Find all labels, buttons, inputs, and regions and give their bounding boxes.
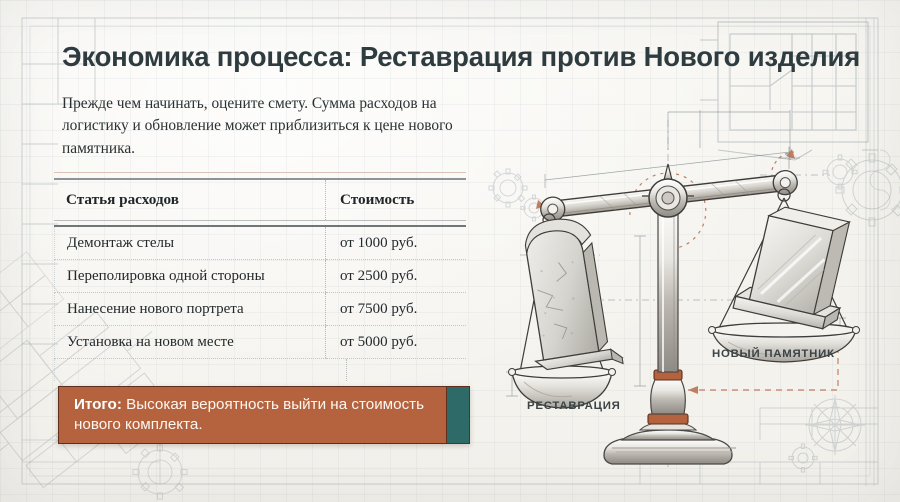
table-row: Установка на новом месте от 5000 руб. — [55, 326, 467, 359]
table-header-rule — [54, 220, 466, 227]
col-header-item: Статья расходов — [54, 180, 326, 220]
table-bottom-spacer — [54, 359, 466, 381]
summary-callout-body: Высокая вероятность выйти на стоимость н… — [74, 396, 424, 433]
summary-callout-label: Итого: — [74, 396, 122, 413]
cell-cost: от 2500 руб. — [326, 260, 467, 293]
cell-item: Нанесение нового портрета — [55, 293, 326, 326]
label-restoration: РЕСТАВРАЦИЯ — [527, 400, 621, 412]
cell-cost: от 1000 руб. — [326, 227, 467, 260]
cell-cost: от 7500 руб. — [326, 293, 467, 326]
label-new-monument: НОВЫЙ ПАМЯТНИК — [712, 348, 835, 360]
table-top-rule — [54, 172, 466, 180]
cell-cost: от 5000 руб. — [326, 326, 467, 359]
table-row: Нанесение нового портрета от 7500 руб. — [55, 293, 467, 326]
summary-callout-text: Итого: Высокая вероятность выйти на стои… — [59, 387, 446, 443]
table-row: Демонтаж стелы от 1000 руб. — [55, 227, 467, 260]
cost-table-grid: Статья расходов Стоимость — [54, 180, 466, 220]
cost-table-body: Демонтаж стелы от 1000 руб. Переполировк… — [54, 227, 466, 359]
table-header-row: Статья расходов Стоимость — [54, 180, 466, 220]
summary-callout-accent — [446, 387, 469, 443]
cell-item: Переполировка одной стороны — [55, 260, 326, 293]
page-title: Экономика процесса: Реставрация против Н… — [62, 42, 862, 73]
table-row: Переполировка одной стороны от 2500 руб. — [55, 260, 467, 293]
summary-callout: Итого: Высокая вероятность выйти на стои… — [58, 386, 470, 444]
cell-item: Демонтаж стелы — [55, 227, 326, 260]
page-subtitle: Прежде чем начинать, оцените смету. Сумм… — [62, 93, 492, 160]
cost-table: Статья расходов Стоимость Демонтаж стелы… — [54, 172, 466, 381]
col-header-cost: Стоимость — [326, 180, 467, 220]
slide-content: Экономика процесса: Реставрация против Н… — [0, 0, 900, 502]
cell-item: Установка на новом месте — [55, 326, 326, 359]
